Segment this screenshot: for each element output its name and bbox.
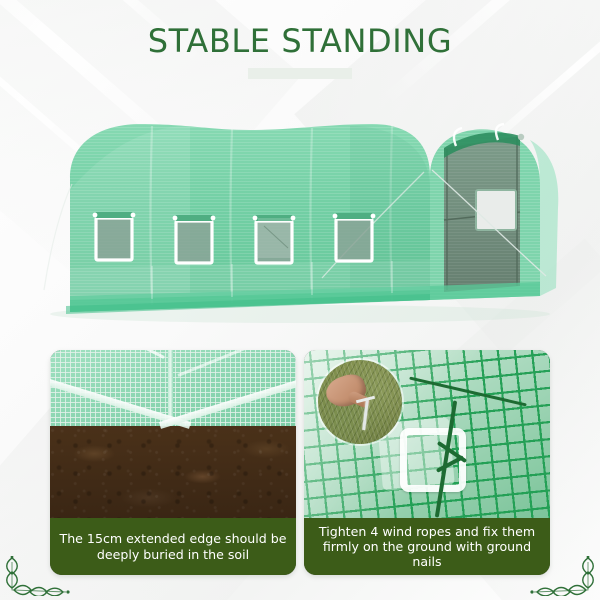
vine-corner-ornament-bottom-right — [528, 556, 594, 596]
caption-buried-edge: The 15cm extended edge should be deeply … — [50, 518, 296, 575]
vine-corner-ornament-bottom-left — [6, 556, 72, 596]
caption-wind-ropes: Tighten 4 wind ropes and fix them firmly… — [304, 518, 550, 575]
page-title: STABLE STANDING — [0, 22, 600, 60]
infographic-canvas: STABLE STANDING — [0, 0, 600, 600]
soil-texture — [50, 426, 296, 518]
soil-bed — [50, 426, 296, 518]
photo-greenhouse-corner-buried-in-soil — [50, 350, 296, 518]
greenhouse-illustration — [0, 100, 600, 345]
panel-wind-ropes: Tighten 4 wind ropes and fix them firmly… — [304, 350, 550, 575]
title-underline — [248, 68, 352, 79]
panel-buried-edge: The 15cm extended edge should be deeply … — [50, 350, 296, 575]
door-window — [476, 190, 516, 230]
photo-wind-rope-tied-to-reinforced-loop — [304, 350, 550, 518]
guy-rope — [44, 184, 72, 290]
inset-ground-nail-photo — [318, 360, 402, 444]
